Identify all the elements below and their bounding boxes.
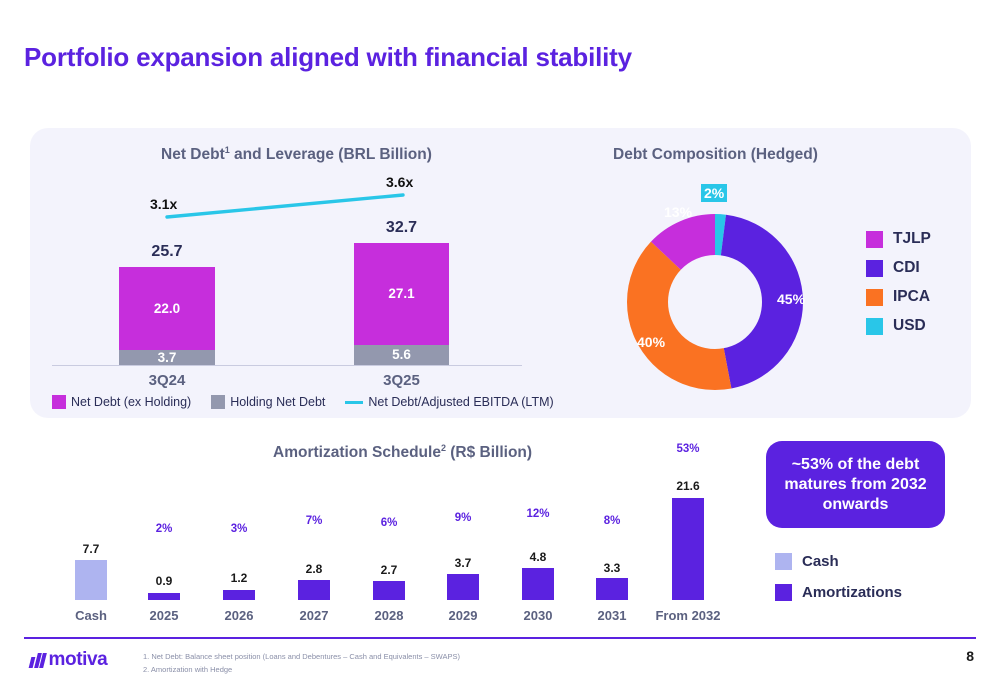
net-debt-baseline	[52, 365, 522, 366]
motiva-logo: motiva	[30, 649, 107, 671]
amortization-pct-2025: 2%	[141, 523, 187, 535]
amortization-category-2029: 2029	[440, 608, 486, 623]
legend-item-tjlp: TJLP	[866, 230, 931, 248]
legend-swatch-icon-tjlp	[866, 231, 883, 248]
amortization-category-2031: 2031	[589, 608, 635, 623]
amortization-pct-2027: 7%	[291, 515, 337, 527]
amortization-pct-2030: 12%	[515, 508, 561, 520]
footnote-1: 1. Net Debt: Balance sheet position (Loa…	[143, 650, 460, 663]
legend-swatch-icon-holding-net-debt	[211, 395, 225, 409]
amortization-pct-2031: 8%	[589, 515, 635, 527]
bar-total-3q24: 25.7	[119, 243, 215, 261]
legend-swatch-icon-net-debt-ex-holding	[52, 395, 66, 409]
legend-label-tjlp: TJLP	[893, 230, 931, 248]
amortization-pct-2026: 3%	[216, 523, 262, 535]
motiva-logo-text: motiva	[49, 649, 108, 671]
donut-value-label-tjlp: 13%	[664, 204, 692, 220]
amortization-value-from-2032: 21.6	[657, 479, 719, 493]
amortization-value-2026: 1.2	[216, 571, 262, 585]
legend-label-usd: USD	[893, 317, 926, 335]
bar-total-3q25: 32.7	[354, 219, 449, 237]
amortization-category-2026: 2026	[216, 608, 262, 623]
legend-swatch-icon-cdi	[866, 260, 883, 277]
leverage-trend-line	[167, 195, 403, 217]
legend-swatch-icon-usd	[866, 318, 883, 335]
bar-value-holding-net-debt-3q24: 3.7	[119, 350, 215, 365]
footnotes: 1. Net Debt: Balance sheet position (Loa…	[143, 650, 460, 676]
legend-item-ipca: IPCA	[866, 288, 931, 306]
amortization-bar-2027	[298, 580, 330, 600]
debt-maturity-callout: ~53% of the debt matures from 2032 onwar…	[766, 441, 945, 528]
amortization-value-2030: 4.8	[515, 550, 561, 564]
page-number: 8	[966, 648, 974, 664]
donut-value-label-ipca: 40%	[637, 334, 665, 350]
debt-composition-panel-title: Debt Composition (Hedged)	[613, 146, 818, 164]
footnote-2: 2. Amortization with Hedge	[143, 663, 460, 676]
amortization-value-cash: 7.7	[68, 542, 114, 556]
debt-composition-legend: TJLP CDI IPCA USD	[866, 230, 931, 335]
amortization-bar-2031	[596, 578, 628, 600]
page-title: Portfolio expansion aligned with financi…	[24, 42, 632, 73]
amortization-value-2027: 2.8	[291, 562, 337, 576]
legend-label-holding-net-debt: Holding Net Debt	[230, 395, 325, 409]
amortization-title-rest: (R$ Billion)	[446, 444, 532, 461]
legend-item-usd: USD	[866, 317, 931, 335]
bar-value-holding-net-debt-3q25: 5.6	[354, 347, 449, 362]
amortization-value-2031: 3.3	[589, 561, 635, 575]
amortization-pct-2028: 6%	[366, 517, 412, 529]
legend-label-cdi: CDI	[893, 259, 920, 277]
amortization-panel-title: Amortization Schedule2 (R$ Billion)	[273, 443, 532, 462]
amortization-title-main: Amortization Schedule	[273, 444, 441, 461]
legend-label-ipca: IPCA	[893, 288, 930, 306]
amortization-bar-from-2032	[672, 498, 704, 600]
amortization-pct-2029: 9%	[440, 512, 486, 524]
amortization-category-2028: 2028	[366, 608, 412, 623]
category-label-3q25: 3Q25	[354, 372, 449, 389]
amortization-pct-from-2032: 53%	[657, 443, 719, 455]
legend-item-amortizations: Amortizations	[775, 584, 902, 601]
bar-value-net-debt-ex-holding-3q24: 22.0	[119, 301, 215, 316]
footer-divider	[24, 637, 976, 639]
net-debt-legend: Net Debt (ex Holding) Holding Net Debt N…	[52, 395, 568, 409]
legend-item-net-debt-ex-holding: Net Debt (ex Holding)	[52, 395, 191, 409]
legend-label-net-debt-ex-holding: Net Debt (ex Holding)	[71, 395, 191, 409]
leverage-label-3q24: 3.1x	[150, 196, 177, 212]
amortization-category-2030: 2030	[515, 608, 561, 623]
legend-item-holding-net-debt: Holding Net Debt	[211, 395, 325, 409]
amortization-category-2025: 2025	[141, 608, 187, 623]
legend-swatch-icon-amortizations	[775, 584, 792, 601]
legend-label-leverage: Net Debt/Adjusted EBITDA (LTM)	[368, 395, 553, 409]
legend-line-icon-leverage	[345, 401, 363, 404]
amortization-bar-2029	[447, 574, 479, 600]
legend-label-cash: Cash	[802, 553, 839, 570]
leverage-label-3q25: 3.6x	[386, 174, 413, 190]
legend-item-cdi: CDI	[866, 259, 931, 277]
donut-value-label-usd: 2%	[701, 184, 727, 202]
amortization-value-2028: 2.7	[366, 563, 412, 577]
category-label-3q24: 3Q24	[119, 372, 215, 389]
amortization-legend: Cash Amortizations	[775, 553, 902, 615]
amortization-category-2027: 2027	[291, 608, 337, 623]
motiva-logo-mark-icon	[30, 653, 45, 668]
amortization-bar-2025	[148, 593, 180, 600]
bar-value-net-debt-ex-holding-3q25: 27.1	[354, 286, 449, 301]
amortization-bar-2026	[223, 590, 255, 600]
donut-value-label-cdi: 45%	[777, 291, 805, 307]
amortization-bar-cash	[75, 560, 107, 600]
slide-root: Portfolio expansion aligned with financi…	[0, 0, 1000, 685]
amortization-category-cash: Cash	[68, 608, 114, 623]
legend-item-cash: Cash	[775, 553, 902, 570]
amortization-value-2025: 0.9	[141, 574, 187, 588]
legend-swatch-icon-cash	[775, 553, 792, 570]
legend-label-amortizations: Amortizations	[802, 584, 902, 601]
amortization-bar-2030	[522, 568, 554, 600]
amortization-category-from-2032: From 2032	[650, 608, 726, 623]
amortization-value-2029: 3.7	[440, 556, 486, 570]
legend-item-leverage: Net Debt/Adjusted EBITDA (LTM)	[345, 395, 553, 409]
legend-swatch-icon-ipca	[866, 289, 883, 306]
amortization-bar-2028	[373, 581, 405, 600]
